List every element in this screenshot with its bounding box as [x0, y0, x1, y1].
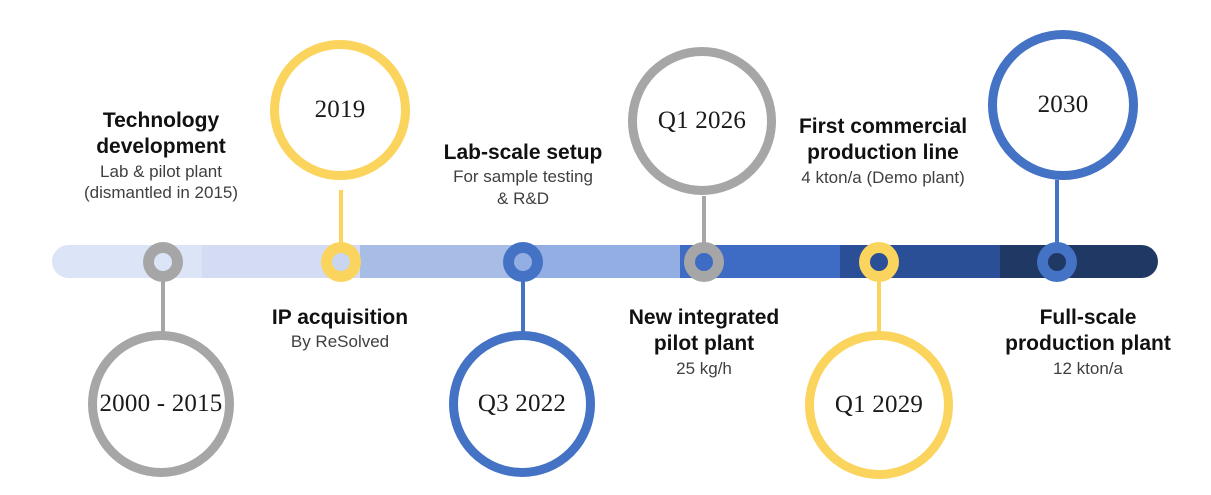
- milestone-sub-line1: 25 kg/h: [608, 358, 800, 379]
- marker-hole: [514, 253, 532, 271]
- marker-hole: [332, 253, 350, 271]
- milestone-title-line1: Lab-scale setup: [432, 140, 614, 166]
- milestone-label-2000-2015: Technology development Lab & pilot plant…: [61, 108, 261, 203]
- milestone-label-q1-2026: New integrated pilot plant 25 kg/h: [608, 305, 800, 379]
- milestone-sub-line1: Lab & pilot plant: [61, 161, 261, 182]
- milestone-circle-q1-2026[interactable]: Q1 2026: [628, 47, 776, 195]
- milestone-circle-label: 2030: [1038, 91, 1089, 119]
- milestone-sub-line1: 12 kton/a: [988, 358, 1188, 379]
- milestone-title-line2: production plant: [988, 331, 1188, 357]
- milestone-circle-q1-2029[interactable]: Q1 2029: [805, 331, 953, 479]
- marker-hole: [870, 253, 888, 271]
- milestone-circle-label: Q1 2029: [835, 391, 923, 419]
- milestone-title-line1: Full-scale: [988, 305, 1188, 331]
- marker-hole: [1048, 253, 1066, 271]
- milestone-circle-2030[interactable]: 2030: [988, 30, 1138, 180]
- marker-hole: [695, 253, 713, 271]
- milestone-sub-line2: (dismantled in 2015): [61, 182, 261, 203]
- marker-hole: [154, 253, 172, 271]
- milestone-label-q1-2029: First commercial production line 4 kton/…: [785, 114, 981, 188]
- milestone-sub-line1: For sample testing: [432, 166, 614, 187]
- bar-segment-4: [520, 245, 680, 278]
- milestone-circle-q3-2022[interactable]: Q3 2022: [449, 331, 595, 477]
- milestone-sub-line2: & R&D: [432, 188, 614, 209]
- marker-q3-2022[interactable]: [503, 242, 543, 282]
- milestone-circle-label: Q3 2022: [478, 390, 566, 418]
- timeline-bar: [52, 245, 1158, 278]
- bar-segment-3: [360, 245, 520, 278]
- timeline-diagram: 2000 - 2015 Technology development Lab &…: [0, 0, 1211, 495]
- milestone-title-line1: Technology: [61, 108, 261, 134]
- milestone-circle-label: Q1 2026: [658, 107, 746, 135]
- milestone-circle-label: 2019: [315, 96, 366, 124]
- milestone-circle-2019[interactable]: 2019: [270, 40, 410, 180]
- milestone-circle-2000-2015[interactable]: 2000 - 2015: [88, 331, 234, 477]
- milestone-sub-line1: 4 kton/a (Demo plant): [785, 167, 981, 188]
- marker-q1-2026[interactable]: [684, 242, 724, 282]
- milestone-label-q3-2022: Lab-scale setup For sample testing & R&D: [432, 140, 614, 209]
- milestone-title-line1: New integrated: [608, 305, 800, 331]
- milestone-sub-line1: By ReSolved: [250, 331, 430, 352]
- marker-2000-2015[interactable]: [143, 242, 183, 282]
- milestone-title-line1: IP acquisition: [250, 305, 430, 331]
- marker-2019[interactable]: [321, 242, 361, 282]
- bar-segment-7: [1000, 245, 1158, 278]
- milestone-title-line2: development: [61, 134, 261, 160]
- marker-q1-2029[interactable]: [859, 242, 899, 282]
- milestone-circle-label: 2000 - 2015: [99, 390, 222, 418]
- milestone-title-line2: production line: [785, 140, 981, 166]
- milestone-label-2030: Full-scale production plant 12 kton/a: [988, 305, 1188, 379]
- marker-2030[interactable]: [1037, 242, 1077, 282]
- milestone-title-line1: First commercial: [785, 114, 981, 140]
- milestone-title-line2: pilot plant: [608, 331, 800, 357]
- milestone-label-2019: IP acquisition By ReSolved: [250, 305, 430, 353]
